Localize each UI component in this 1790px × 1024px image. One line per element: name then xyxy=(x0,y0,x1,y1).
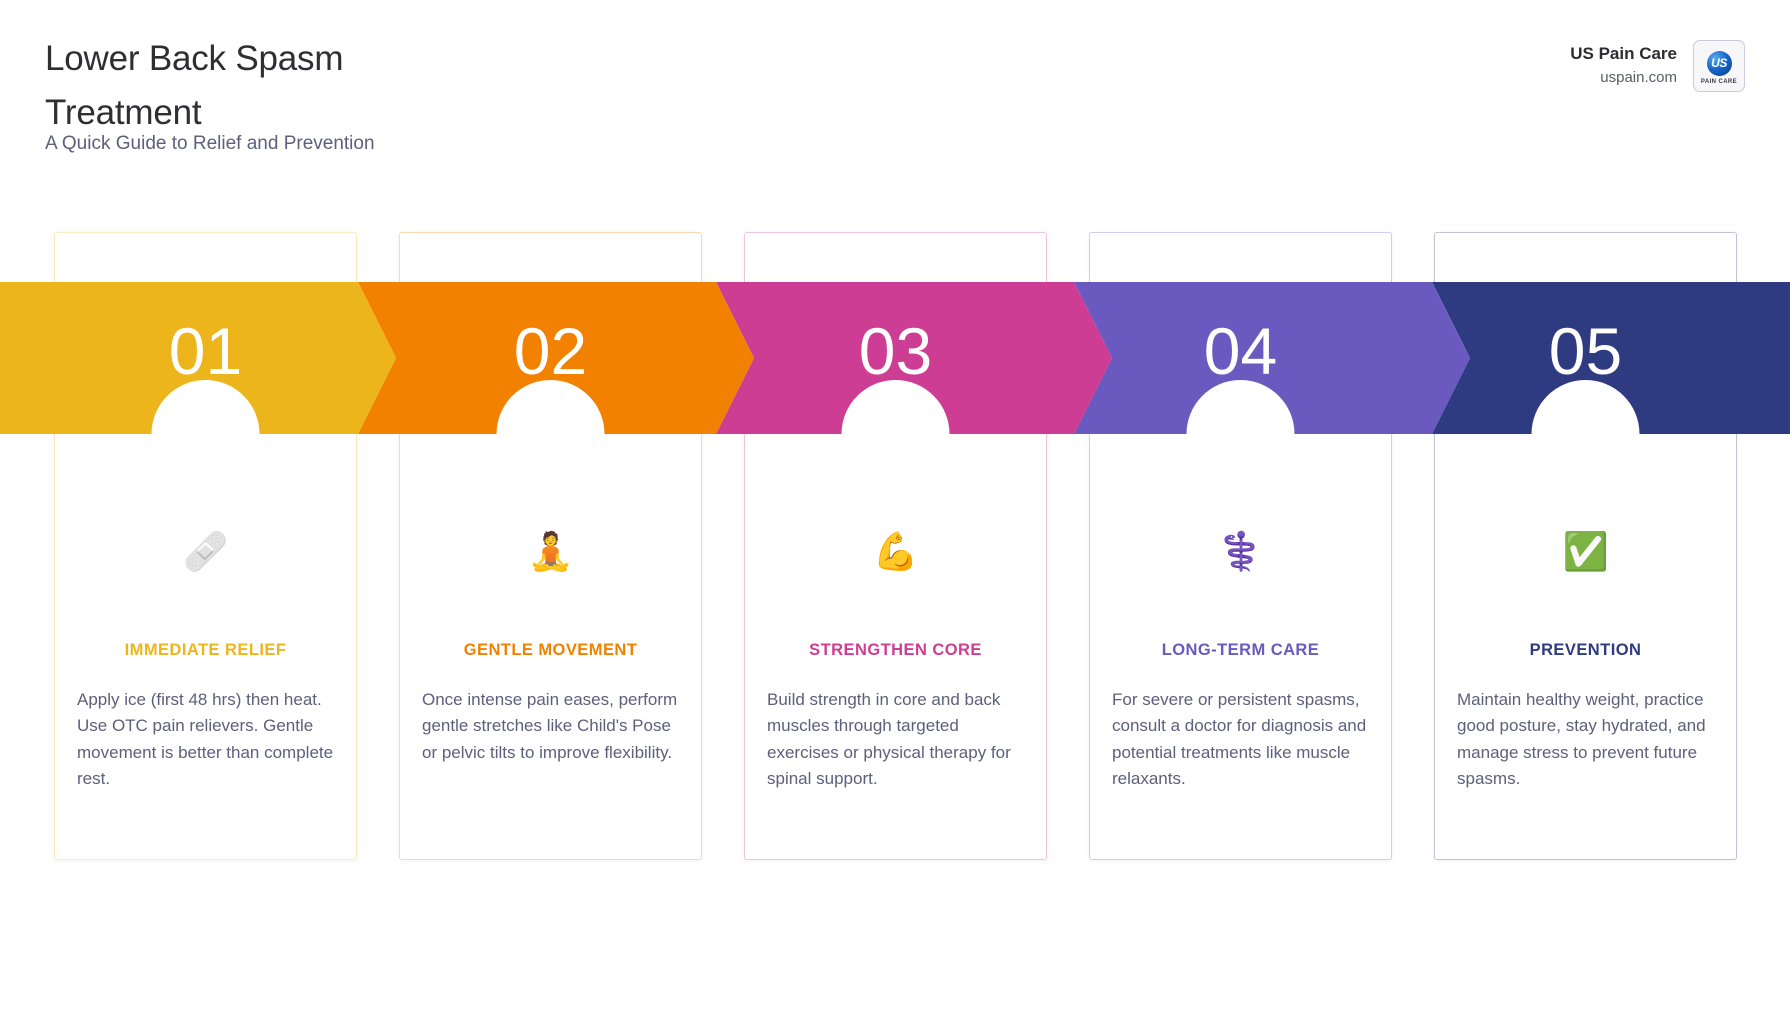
check-mark-button-icon: ✅ xyxy=(1457,533,1714,581)
page-title: Lower Back Spasm Treatment xyxy=(45,32,805,140)
step-card-content: ✅PREVENTIONMaintain healthy weight, prac… xyxy=(1435,533,1736,793)
step-card-content: ⚕️LONG-TERM CAREFor severe or persistent… xyxy=(1090,533,1391,793)
step-card-title: STRENGTHEN CORE xyxy=(767,641,1024,661)
step-card-body: Maintain healthy weight, practice good p… xyxy=(1457,687,1714,793)
brand-text: US Pain Care uspain.com xyxy=(1570,43,1677,88)
flexed-biceps-icon: 💪 xyxy=(767,533,1024,581)
page-header: Lower Back Spasm Treatment A Quick Guide… xyxy=(0,0,1790,200)
step-card-title: LONG-TERM CARE xyxy=(1112,641,1369,661)
page-subtitle: A Quick Guide to Relief and Prevention xyxy=(45,133,375,155)
step-card-content: 🩹IMMEDIATE RELIEFApply ice (first 48 hrs… xyxy=(55,533,356,793)
page-title-line-1: Lower Back Spasm xyxy=(45,39,343,78)
step-card-content: 💪STRENGTHEN COREBuild strength in core a… xyxy=(745,533,1046,793)
step-card-title: PREVENTION xyxy=(1457,641,1714,661)
brand-url[interactable]: uspain.com xyxy=(1570,68,1677,88)
step-card-body: Once intense pain eases, perform gentle … xyxy=(422,687,679,767)
step-card[interactable]: 🩹IMMEDIATE RELIEFApply ice (first 48 hrs… xyxy=(54,232,357,860)
adhesive-bandage-icon: 🩹 xyxy=(77,533,334,581)
step-card-body: For severe or persistent spasms, consult… xyxy=(1112,687,1369,793)
step-card[interactable]: 💪STRENGTHEN COREBuild strength in core a… xyxy=(744,232,1047,860)
step-card[interactable]: ✅PREVENTIONMaintain healthy weight, prac… xyxy=(1434,232,1737,860)
step-card-content: 🧘GENTLE MOVEMENTOnce intense pain eases,… xyxy=(400,533,701,766)
us-pain-care-logo-icon: US xyxy=(1707,51,1732,76)
brand-logo: US PAIN CARE xyxy=(1693,40,1745,92)
step-card-title: GENTLE MOVEMENT xyxy=(422,641,679,661)
brand-name: US Pain Care xyxy=(1570,43,1677,66)
logo-caption: PAIN CARE xyxy=(1701,79,1737,85)
step-card-body: Apply ice (first 48 hrs) then heat. Use … xyxy=(77,687,334,793)
step-card[interactable]: ⚕️LONG-TERM CAREFor severe or persistent… xyxy=(1089,232,1392,860)
step-card-title: IMMEDIATE RELIEF xyxy=(77,641,334,661)
brand-block: US Pain Care uspain.com US PAIN CARE xyxy=(1570,40,1745,92)
person-in-lotus-position-icon: 🧘 xyxy=(422,533,679,581)
steps-card-row: 🩹IMMEDIATE RELIEFApply ice (first 48 hrs… xyxy=(0,232,1790,862)
step-card[interactable]: 🧘GENTLE MOVEMENTOnce intense pain eases,… xyxy=(399,232,702,860)
page-title-line-2: Treatment xyxy=(45,93,201,132)
step-card-body: Build strength in core and back muscles … xyxy=(767,687,1024,793)
medical-symbol-icon: ⚕️ xyxy=(1112,533,1369,581)
